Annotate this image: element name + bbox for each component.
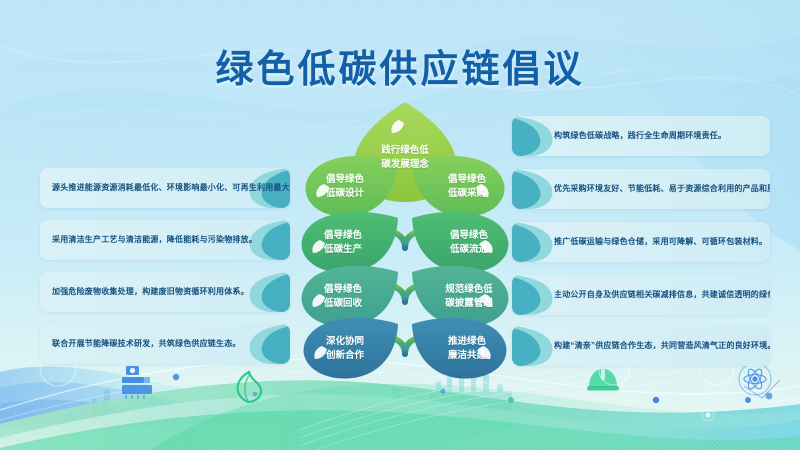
leaf-shape-right-1 (412, 156, 505, 217)
right-statement-item-4[interactable]: 主动公开自身及供应链相关碳减排信息，共建诚信透明的绿色低碳生态。 (512, 275, 770, 315)
leaf-shape-right-2 (412, 212, 508, 273)
leaf-shape-left-3 (302, 266, 398, 327)
leaf-shape-right-3 (412, 266, 508, 327)
leaf-shape-right-4 (412, 318, 506, 379)
poster-canvas: 绿色低碳供应链倡议 源头推进能源资源消耗最低化、环境影响最小化、可再生利用最大化… (0, 0, 800, 450)
right-statement-text: 推广低碳运输与绿色仓储，采用可降解、可循环包装材料。 (512, 237, 770, 247)
right-statement-text: 主动公开自身及供应链相关碳减排信息，共建诚信透明的绿色低碳生态。 (512, 290, 770, 300)
left-statement-text: 联合开展节能降碳技术研发，共筑绿色供应链生态。 (40, 339, 281, 349)
left-statement-text: 采用清洁生产工艺与清洁能源，降低能耗与污染物排放。 (40, 235, 290, 245)
left-statement-item-4[interactable]: 联合开展节能降碳技术研发，共筑绿色供应链生态。 (40, 324, 290, 364)
right-statement-item-3[interactable]: 推广低碳运输与绿色仓储，采用可降解、可循环包装材料。 (512, 222, 770, 262)
supply-chain-tree: 践行绿色低 碳发展理念 倡导绿色 低碳设计 倡导绿色 低碳采购 倡导绿色 低碳生… (280, 96, 530, 386)
left-statement-item-3[interactable]: 加强危险废物收集处理，构建废旧物资循环利用体系。 (40, 272, 290, 312)
leaf-shape-left-1 (305, 156, 398, 217)
right-statement-text: 构建“清亲”供应链合作生态，共同营造风清气正的良好环境。 (512, 341, 770, 351)
leaf-shape-left-4 (304, 318, 398, 379)
right-statement-text: 优先采购环境友好、节能低耗、易于资源综合利用的产品和服务。 (512, 184, 770, 194)
leaf-shape-left-2 (302, 212, 398, 273)
page-title: 绿色低碳供应链倡议 (0, 38, 800, 93)
left-statement-text: 源头推进能源资源消耗最低化、环境影响最小化、可再生利用最大化。 (40, 183, 290, 193)
left-statement-item-1[interactable]: 源头推进能源资源消耗最低化、环境影响最小化、可再生利用最大化。 (40, 168, 290, 208)
left-statement-text: 加强危险废物收集处理，构建废旧物资循环利用体系。 (40, 287, 289, 297)
right-statement-item-1[interactable]: 构筑绿色低碳战略，践行全生命周期环境责任。 (512, 116, 770, 156)
right-statement-item-2[interactable]: 优先采购环境友好、节能低耗、易于资源综合利用的产品和服务。 (512, 169, 770, 209)
left-statement-item-2[interactable]: 采用清洁生产工艺与清洁能源，降低能耗与污染物排放。 (40, 220, 290, 260)
right-statement-item-5[interactable]: 构建“清亲”供应链合作生态，共同营造风清气正的良好环境。 (512, 326, 770, 366)
right-statement-text: 构筑绿色低碳战略，践行全生命周期环境责任。 (512, 131, 738, 141)
tree-graphic (280, 96, 530, 386)
